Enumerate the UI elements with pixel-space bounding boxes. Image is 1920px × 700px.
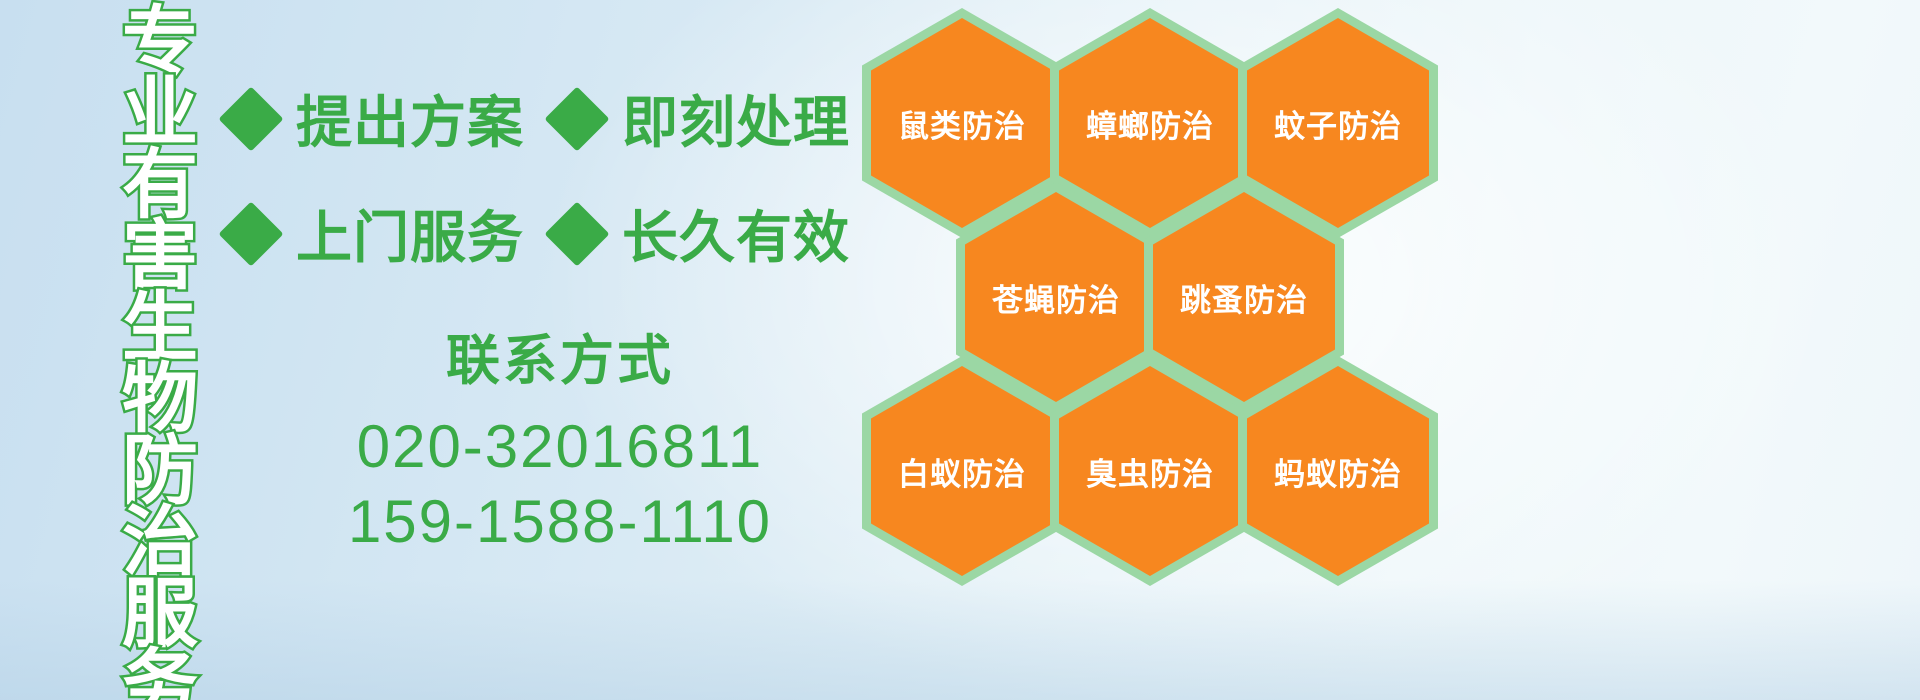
service-hex-label: 蚂蚁防治	[1274, 449, 1402, 494]
feature-item-onsite-service: 上门服务	[228, 193, 524, 274]
contact-block: 联系方式 020-32016811 159-1588-1110	[300, 316, 820, 559]
feature-item-long-lasting: 长久有效	[554, 193, 850, 274]
service-hex-label: 苍蝇防治	[992, 275, 1120, 320]
vertical-headline: 专 业 有 害 生 物 防 治 服 务	[108, 6, 212, 686]
diamond-bullet-icon	[544, 86, 609, 151]
feature-item-propose-plan: 提出方案	[228, 78, 524, 159]
phone-mobile[interactable]: 159-1588-1110	[300, 484, 820, 559]
contact-title: 联系方式	[300, 316, 820, 395]
vertical-headline-char: 物	[122, 363, 198, 434]
feature-row: 提出方案 即刻处理	[228, 78, 868, 159]
feature-row: 上门服务 长久有效	[228, 193, 868, 274]
vertical-headline-char: 业	[122, 77, 198, 148]
feature-label: 即刻处理	[622, 78, 850, 159]
service-hexagon-grid: 鼠类防治 蟑螂防治 蚊子防治 苍蝇防治 跳蚤防治 白蚁防治 臭虫防治	[862, 0, 1462, 580]
diamond-bullet-icon	[218, 86, 283, 151]
vertical-headline-char: 务	[122, 649, 198, 700]
diamond-bullet-icon	[544, 201, 609, 266]
pest-control-banner: 专 业 有 害 生 物 防 治 服 务 提出方案 即刻处理 上门服务	[0, 0, 1920, 700]
vertical-headline-char: 生	[122, 292, 198, 363]
vertical-headline-char: 服	[122, 578, 198, 649]
feature-label: 提出方案	[296, 78, 524, 159]
feature-label: 长久有效	[622, 193, 850, 274]
vertical-headline-char: 治	[122, 506, 198, 577]
vertical-headline-char: 害	[122, 220, 198, 291]
vertical-headline-char: 防	[122, 435, 198, 506]
service-hex-label: 鼠类防治	[898, 101, 1026, 146]
service-hex-label: 白蚁防治	[898, 449, 1026, 494]
feature-list: 提出方案 即刻处理 上门服务 长久有效	[228, 78, 868, 308]
diamond-bullet-icon	[218, 201, 283, 266]
vertical-headline-char: 专	[122, 6, 198, 77]
service-hex-label: 跳蚤防治	[1180, 275, 1308, 320]
feature-item-immediate-handling: 即刻处理	[554, 78, 850, 159]
service-hex-label: 蚊子防治	[1274, 101, 1402, 146]
phone-landline[interactable]: 020-32016811	[300, 409, 820, 484]
vertical-headline-char: 有	[122, 149, 198, 220]
service-hex-label: 臭虫防治	[1086, 449, 1214, 494]
feature-label: 上门服务	[296, 193, 524, 274]
service-hex-label: 蟑螂防治	[1086, 101, 1214, 146]
